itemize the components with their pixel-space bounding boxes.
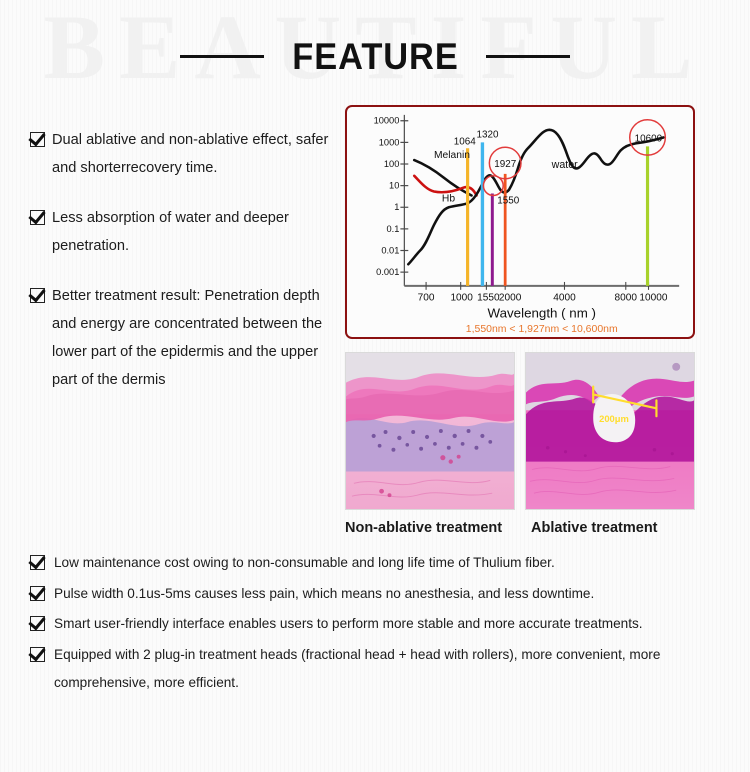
list-item: Better treatment result: Penetration dep… — [30, 282, 330, 394]
scale-bar-label: 200μm — [599, 414, 629, 424]
histology-ablative: 200μm — [525, 352, 695, 510]
checkmark-icon — [30, 288, 45, 303]
checkmark-icon — [30, 647, 45, 662]
left-feature-list: Dual ablative and non-ablative effect, s… — [30, 126, 330, 394]
histology-non-ablative — [345, 352, 515, 510]
y-axis-ticklabels: 10000 1000 100 10 1 0.1 0.01 0.001 — [374, 116, 400, 277]
svg-text:4000: 4000 — [553, 293, 576, 304]
checkmark-icon — [30, 555, 45, 570]
bottom-feature-list: Low maintenance cost owing to non-consum… — [30, 549, 730, 700]
list-item-label: Smart user-friendly interface enables us… — [54, 610, 730, 639]
chart-canvas: 10000 1000 100 10 1 0.1 0.01 0.001 — [347, 107, 693, 337]
header-rule-right — [486, 55, 570, 58]
list-item-label: Equipped with 2 plug-in treatment heads … — [54, 641, 730, 698]
histology-non-ablative-image — [346, 353, 514, 509]
svg-text:1550: 1550 — [477, 293, 500, 304]
histology-captions: Non-ablative treatment Ablative treatmen… — [345, 520, 705, 536]
list-item-label: Low maintenance cost owing to non-consum… — [54, 549, 730, 578]
svg-text:8000: 8000 — [615, 293, 638, 304]
histology-image-row: 200μm — [345, 352, 695, 510]
checkmark-icon — [30, 616, 45, 631]
histology-ablative-image: 200μm — [526, 353, 694, 509]
list-item-label: Dual ablative and non-ablative effect, s… — [52, 126, 330, 182]
series-melanin-curve — [414, 160, 471, 195]
list-item: Smart user-friendly interface enables us… — [30, 610, 730, 639]
list-item: Low maintenance cost owing to non-consum… — [30, 549, 730, 578]
svg-text:1000: 1000 — [379, 137, 400, 147]
label-hb: Hb — [442, 193, 455, 204]
label-melanin: Melanin — [434, 150, 470, 161]
label-1064: 1064 — [454, 136, 476, 147]
absorption-spectrum-chart: 10000 1000 100 10 1 0.1 0.01 0.001 — [345, 105, 695, 339]
svg-text:10: 10 — [389, 181, 399, 191]
checkmark-icon — [30, 586, 45, 601]
svg-text:0.01: 0.01 — [381, 245, 399, 255]
label-1927: 1927 — [494, 159, 516, 170]
chart-caption: 1,550nm < 1,927nm < 10,600nm — [466, 324, 618, 335]
svg-text:100: 100 — [384, 159, 399, 169]
label-water: water — [551, 159, 579, 171]
svg-text:1000: 1000 — [450, 293, 473, 304]
list-item-label: Pulse width 0.1us-5ms causes less pain, … — [54, 580, 730, 609]
checkmark-icon — [30, 132, 45, 147]
header-rule-left — [180, 55, 264, 58]
x-axis-ticklabels: 700 1000 1550 2000 4000 8000 10000 — [418, 293, 668, 304]
page-title: FEATURE — [292, 38, 458, 75]
x-axis-title: Wavelength ( nm ) — [488, 305, 596, 320]
histology-caption-left: Non-ablative treatment — [345, 520, 531, 536]
svg-text:700: 700 — [418, 293, 435, 304]
page-header: FEATURE — [0, 38, 750, 75]
list-item: Pulse width 0.1us-5ms causes less pain, … — [30, 580, 730, 609]
y-axis — [400, 115, 408, 286]
svg-text:10000: 10000 — [639, 293, 667, 304]
svg-text:0.001: 0.001 — [376, 267, 399, 277]
svg-text:0.1: 0.1 — [386, 224, 399, 234]
list-item-label: Better treatment result: Penetration dep… — [52, 282, 330, 394]
list-item: Equipped with 2 plug-in treatment heads … — [30, 641, 730, 698]
label-1320: 1320 — [477, 129, 499, 140]
list-item: Dual ablative and non-ablative effect, s… — [30, 126, 330, 182]
list-item: Less absorption of water and deeper pene… — [30, 204, 330, 260]
x-axis — [404, 282, 679, 290]
checkmark-icon — [30, 210, 45, 225]
list-item-label: Less absorption of water and deeper pene… — [52, 204, 330, 260]
label-10600: 10600 — [635, 133, 663, 144]
label-1550: 1550 — [497, 195, 519, 206]
histology-caption-right: Ablative treatment — [531, 520, 658, 536]
svg-text:2000: 2000 — [499, 293, 522, 304]
svg-text:1: 1 — [394, 202, 399, 212]
svg-text:10000: 10000 — [374, 116, 400, 126]
